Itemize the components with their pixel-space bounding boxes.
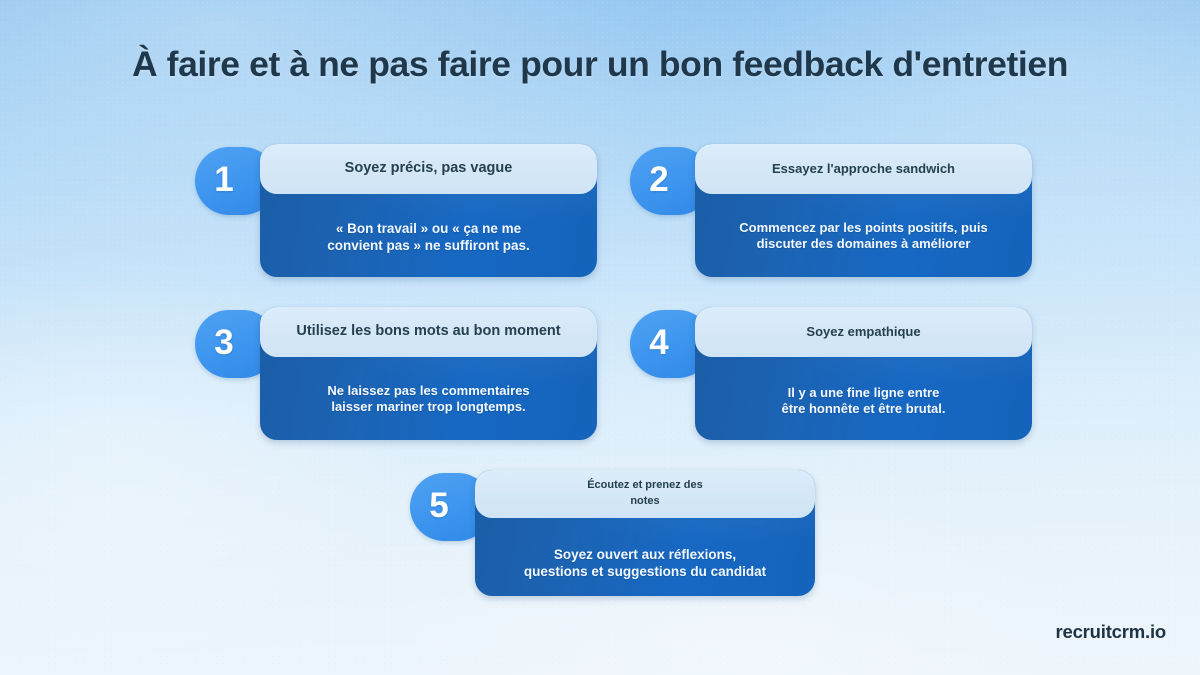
tip-body-line: être honnête et être brutal.	[711, 401, 1016, 417]
tip-header: Utilisez les bons mots au bon moment	[260, 307, 597, 357]
tip-body-line: Commencez par les points positifs, puis	[711, 220, 1016, 236]
tip-header-text: Essayez l'approche sandwich	[758, 161, 969, 177]
page-title: À faire et à ne pas faire pour un bon fe…	[0, 44, 1200, 85]
tip-header-text: Soyez précis, pas vague	[331, 160, 527, 178]
tip-body-text: « Bon travail » ou « ça ne me convient p…	[260, 220, 597, 254]
tip-number: 4	[630, 310, 688, 378]
tip-body-text: Soyez ouvert aux réflexions, questions e…	[475, 546, 815, 580]
tip-body-line: Il y a une fine ligne entre	[711, 385, 1016, 401]
tip-card-3: 3 Utilisez les bons mots au bon moment N…	[195, 307, 597, 443]
tip-body-text: Commencez par les points positifs, puis …	[695, 220, 1032, 253]
tip-number: 3	[195, 310, 253, 378]
tip-body-text: Il y a une fine ligne entre être honnête…	[695, 385, 1032, 418]
tip-body-line: « Bon travail » ou « ça ne me	[276, 220, 581, 237]
tip-header-line: Soyez précis, pas vague	[345, 160, 513, 176]
tip-number: 5	[410, 473, 468, 541]
tip-header: Essayez l'approche sandwich	[695, 144, 1032, 194]
tip-header-line: notes	[587, 494, 703, 510]
tip-body-line: laisser mariner trop longtemps.	[276, 399, 581, 415]
tip-header-line: Soyez empathique	[806, 324, 920, 339]
tip-card-5: 5 Écoutez et prenez des notes Soyez ouve…	[410, 470, 815, 598]
tip-body-line: Ne laissez pas les commentaires	[276, 383, 581, 399]
tip-body-line: convient pas » ne suffiront pas.	[276, 237, 581, 254]
tip-body-line: Soyez ouvert aux réflexions,	[491, 546, 799, 563]
tip-header-text: Écoutez et prenez des notes	[573, 478, 717, 510]
tip-card-4: 4 Soyez empathique Il y a une fine ligne…	[630, 307, 1032, 443]
tip-header-text: Soyez empathique	[792, 324, 934, 340]
tip-body-line: questions et suggestions du candidat	[491, 563, 799, 580]
tip-header: Soyez empathique	[695, 307, 1032, 357]
tip-header: Écoutez et prenez des notes	[475, 470, 815, 518]
tip-header: Soyez précis, pas vague	[260, 144, 597, 194]
tip-body-text: Ne laissez pas les commentaires laisser …	[260, 383, 597, 416]
tip-header-line: Utilisez les bons mots au bon moment	[296, 323, 560, 339]
brand-logo: recruitcrm.io	[1056, 621, 1167, 643]
tip-number: 1	[195, 147, 253, 215]
tip-number: 2	[630, 147, 688, 215]
tip-header-text: Utilisez les bons mots au bon moment	[282, 323, 574, 341]
tip-body-line: discuter des domaines à améliorer	[711, 236, 1016, 252]
tip-header-line: Essayez l'approche sandwich	[772, 161, 955, 176]
tip-card-1: 1 Soyez précis, pas vague « Bon travail …	[195, 144, 597, 280]
tip-card-2: 2 Essayez l'approche sandwich Commencez …	[630, 144, 1032, 280]
tip-header-line: Écoutez et prenez des	[587, 478, 703, 494]
